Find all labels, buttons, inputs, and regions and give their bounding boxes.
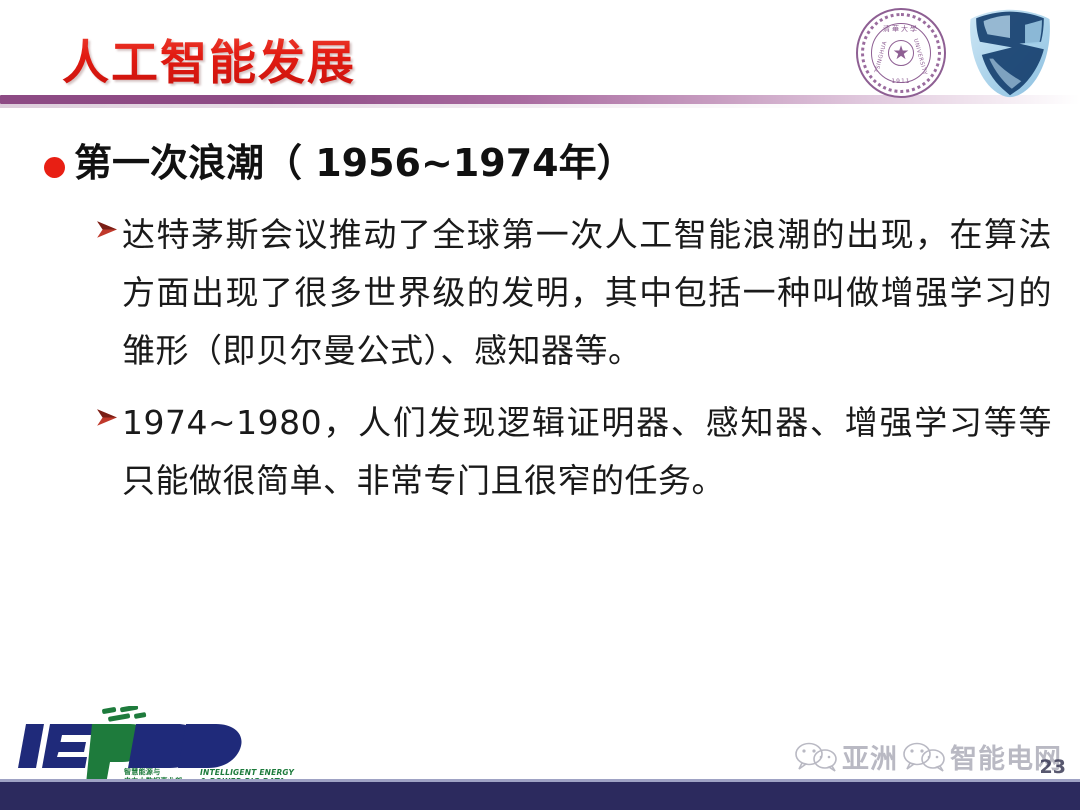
- tsinghua-university-seal-icon: 清華大學 TSINGHUA UNIVERSITY ★ 1911: [856, 8, 946, 98]
- level2-bullet-list: 达特茅斯会议推动了全球第一次人工智能浪潮的出现，在算法方面出现了很多世界级的发明…: [0, 206, 1080, 510]
- footer-bar: [0, 782, 1080, 810]
- level1-bullet: 第一次浪潮（ 1956~1974年）: [0, 140, 1080, 188]
- seal-top-text: 清華大學: [858, 24, 944, 34]
- page-number: 23: [1040, 756, 1066, 778]
- level2-bullet-item: 1974~1980，人们发现逻辑证明器、感知器、增强学习等等只能做很简单、非常专…: [0, 394, 1080, 510]
- wechat-watermark: 亚洲 智能电网: [794, 737, 1062, 776]
- header-logos: 清華大學 TSINGHUA UNIVERSITY ★ 1911: [854, 4, 1074, 98]
- wechat-icon: [902, 742, 946, 772]
- seal-year-text: 1911: [858, 78, 944, 85]
- header-divider-shadow: [0, 104, 1080, 108]
- level1-bullet-label: 第一次浪潮（ 1956~1974年）: [74, 140, 635, 188]
- slide-header: 人工智能发展 清華大學 TSINGHUA UNIVERSITY ★ 1911: [0, 0, 1080, 100]
- slide-body: 第一次浪潮（ 1956~1974年） 达特茅斯会议推动了全球第一次人工智能浪潮的…: [0, 140, 1080, 524]
- presentation-slide: 人工智能发展 清華大學 TSINGHUA UNIVERSITY ★ 1911: [0, 0, 1080, 810]
- arrow-bullet-icon: [96, 219, 118, 241]
- page-title: 人工智能发展: [62, 24, 356, 93]
- iepbd-tagline-en-line1: INTELLIGENT ENERGY: [200, 768, 294, 777]
- red-dot-bullet-icon: [44, 157, 65, 178]
- arrow-bullet-icon: [96, 407, 118, 429]
- wechat-icon: [794, 742, 838, 772]
- level2-bullet-label: 达特茅斯会议推动了全球第一次人工智能浪潮的出现，在算法方面出现了很多世界级的发明…: [122, 206, 1052, 380]
- watermark-text-asia: 亚洲: [842, 737, 898, 776]
- iepbd-tagline-cn-line1: 智慧能源与: [124, 768, 182, 777]
- blue-shield-logo-icon: [962, 6, 1058, 100]
- level2-bullet-item: 达特茅斯会议推动了全球第一次人工智能浪潮的出现，在算法方面出现了很多世界级的发明…: [0, 206, 1080, 380]
- level2-bullet-label: 1974~1980，人们发现逻辑证明器、感知器、增强学习等等只能做很简单、非常专…: [122, 394, 1052, 510]
